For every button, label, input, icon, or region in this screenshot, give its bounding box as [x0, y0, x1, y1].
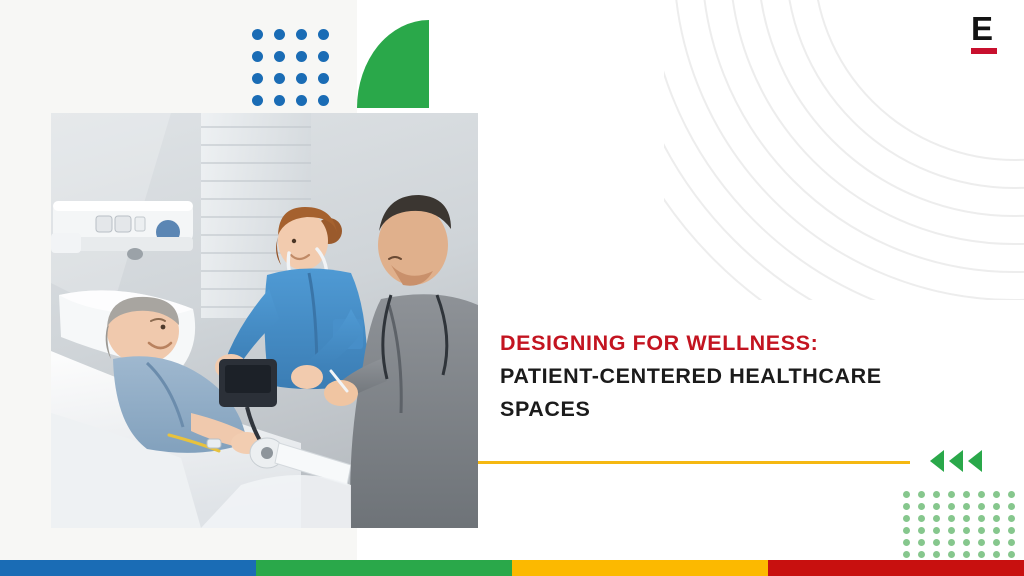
yellow-divider-rule: [478, 461, 910, 464]
page-title: DESIGNING FOR WELLNESS: PATIENT-CENTERED…: [500, 327, 980, 426]
green-quarter-circle-icon: [357, 20, 429, 108]
blue-dot-grid-icon: [252, 29, 340, 117]
brand-logo[interactable]: E: [971, 12, 1005, 54]
green-dot-grid-icon: [903, 491, 1023, 563]
logo-underline-bar: [971, 48, 997, 54]
bottom-color-strip: [0, 560, 1024, 576]
headline-line-3: SPACES: [500, 393, 980, 426]
triangle-left-icon: [930, 450, 944, 472]
slide-canvas: DESIGNING FOR WELLNESS: PATIENT-CENTERED…: [0, 0, 1024, 576]
hero-photo: [51, 113, 478, 528]
triangle-left-icon: [968, 450, 982, 472]
strip-segment-yellow: [512, 560, 768, 576]
strip-segment-red: [768, 560, 1024, 576]
strip-segment-green: [256, 560, 512, 576]
triangle-left-icon: [949, 450, 963, 472]
headline-line-2: PATIENT-CENTERED HEALTHCARE: [500, 360, 980, 393]
strip-segment-blue: [0, 560, 256, 576]
concentric-arcs-icon: [664, 0, 1024, 300]
triangle-left-icon-group: [930, 450, 982, 472]
headline-line-1: DESIGNING FOR WELLNESS:: [500, 327, 980, 360]
logo-letter-mark: E: [971, 12, 1005, 45]
